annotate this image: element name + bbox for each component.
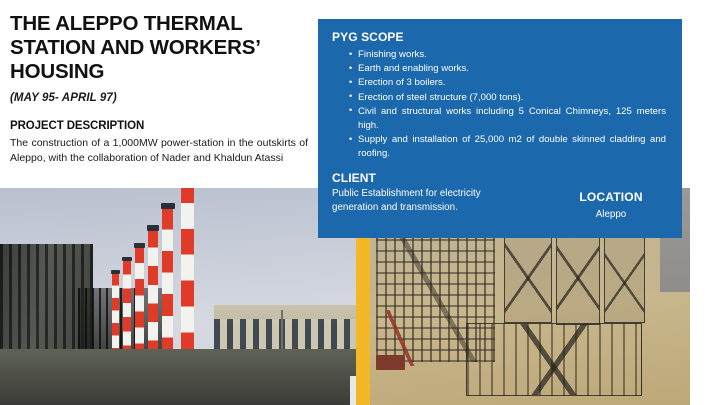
- project-description-body: The construction of a 1,000MW power-stat…: [10, 136, 308, 166]
- scope-info-panel: PYG SCOPE Finishing works. Earth and ena…: [318, 19, 682, 238]
- list-item: Supply and installation of 25,000 m2 of …: [349, 133, 668, 161]
- steel-frame-4: [604, 236, 646, 323]
- location-value: Aleppo: [556, 209, 666, 220]
- light-pole: [281, 310, 283, 353]
- chimney-6: [181, 188, 194, 362]
- power-station-photo: [0, 188, 356, 405]
- chimney-2: [123, 260, 130, 362]
- list-item: Erection of 3 boilers.: [349, 76, 668, 90]
- scope-list: Finishing works. Earth and enabling work…: [332, 48, 668, 162]
- foreground-ground: [0, 349, 356, 405]
- location-block: LOCATION Aleppo: [556, 190, 666, 220]
- list-item: Finishing works.: [349, 48, 668, 62]
- project-dates: (MAY 95- APRIL 97): [10, 92, 310, 104]
- list-item: Civil and structural works including 5 C…: [349, 105, 668, 133]
- chimney-5: [162, 208, 173, 362]
- chimney-4: [148, 229, 158, 361]
- page-title: THE ALEPPO THERMAL STATION AND WORKERS’ …: [10, 12, 310, 84]
- pyg-scope-heading: PYG SCOPE: [332, 30, 668, 44]
- client-heading: CLIENT: [332, 171, 668, 185]
- location-heading: LOCATION: [556, 190, 666, 204]
- chimney-3: [135, 247, 144, 362]
- list-item: Erection of steel structure (7,000 tons)…: [349, 91, 668, 105]
- client-body: Public Establishment for electricity gen…: [332, 187, 500, 215]
- crane-base: [376, 355, 405, 370]
- project-info-column: THE ALEPPO THERMAL STATION AND WORKERS’ …: [10, 12, 310, 166]
- list-item: Earth and enabling works.: [349, 62, 668, 76]
- slide-canvas: THE ALEPPO THERMAL STATION AND WORKERS’ …: [0, 0, 720, 405]
- steel-frame-2: [504, 225, 552, 323]
- steel-frame-3: [556, 223, 601, 325]
- project-description-heading: PROJECT DESCRIPTION: [10, 120, 310, 132]
- steel-frame-foreground: [466, 323, 642, 397]
